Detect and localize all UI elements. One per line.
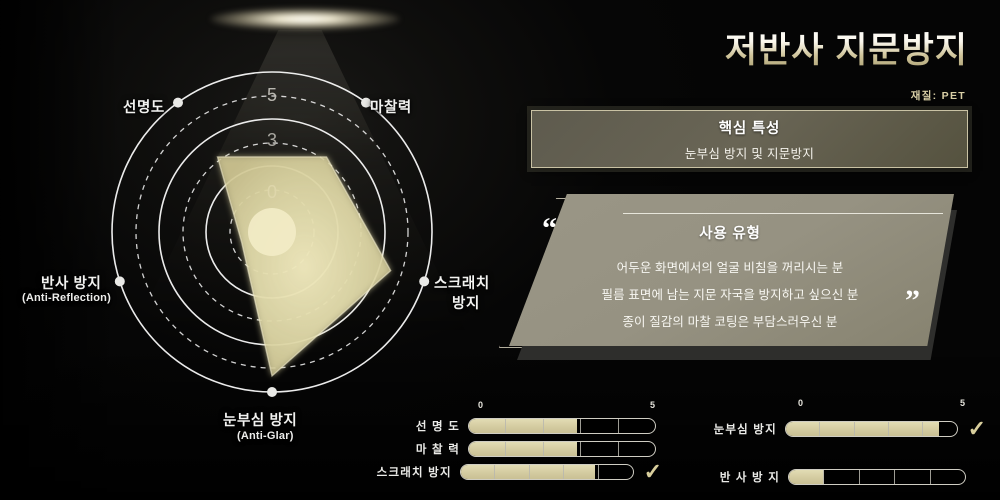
radar-center-hub xyxy=(248,208,296,256)
radar-label-antireflection-en: (Anti-Reflection) xyxy=(22,292,111,304)
usage-type-title: 사용 유형 xyxy=(495,222,965,243)
radar-tick-0: 0 xyxy=(267,182,277,202)
bar-row[interactable]: 눈부심 방지✓ xyxy=(676,420,986,438)
bar-row[interactable]: 마 찰 력 xyxy=(352,440,662,458)
usage-line-2: 필름 표면에 남는 지문 자국을 방지하고 싶으신 분 xyxy=(495,284,965,303)
usage-card-rule xyxy=(623,213,943,214)
radar-label-clarity: 선명도 xyxy=(123,96,165,117)
radar-tick-3: 3 xyxy=(267,130,277,150)
usage-type-card: “ ” 사용 유형 어두운 화면에서의 얼굴 비침을 꺼리시는 분 필름 표면에… xyxy=(495,190,965,360)
bar-scale-max: 5 xyxy=(650,400,655,410)
bar-scale-max: 5 xyxy=(960,398,965,408)
bar-row[interactable]: 반 사 방 지 xyxy=(676,468,986,486)
bar-track[interactable] xyxy=(785,421,958,437)
radar-label-friction: 마찰력 xyxy=(370,96,412,117)
bar-row-label: 스크래치 방지 xyxy=(352,464,460,480)
bar-track[interactable] xyxy=(468,441,656,457)
radar-tick-5: 5 xyxy=(267,85,277,105)
bar-chart-right: 05눈부심 방지✓반 사 방 지 xyxy=(676,398,986,486)
bar-row-label: 마 찰 력 xyxy=(352,441,468,457)
bar-ticks xyxy=(461,465,633,479)
radar-label-antiglare-en: (Anti-Glar) xyxy=(237,430,294,442)
bar-ticks xyxy=(469,419,655,433)
bar-track[interactable] xyxy=(468,418,656,434)
product-spec-infographic: 5 3 0 마찰력 스크래치 방지 눈부심 방지 (Anti-Glar) 반사 … xyxy=(0,0,1000,500)
radar-label-scratch: 스크래치 xyxy=(434,272,490,293)
bar-check-icon: ✓ xyxy=(968,418,986,440)
bar-track[interactable] xyxy=(460,464,634,480)
radar-axis-dot xyxy=(267,387,277,397)
usage-line-3: 종이 질감의 마찰 코팅은 부담스러우신 분 xyxy=(495,311,965,330)
bar-ticks xyxy=(786,422,957,436)
radar-label-scratch-line2: 방지 xyxy=(452,292,480,313)
bar-row-label: 선 명 도 xyxy=(352,418,468,434)
bar-row-label: 눈부심 방지 xyxy=(676,421,785,437)
radar-data-polygon xyxy=(218,157,391,376)
radar-label-antiglare: 눈부심 방지 xyxy=(223,409,297,430)
bar-scale-row: 05 xyxy=(676,398,986,410)
bar-scale-min: 0 xyxy=(798,398,803,408)
bar-ticks xyxy=(469,442,655,456)
radar-axis-dot xyxy=(115,276,125,286)
bar-row[interactable]: 선 명 도 xyxy=(352,417,662,435)
core-feature-title: 핵심 특성 xyxy=(719,117,780,138)
radar-axis-dot xyxy=(419,276,429,286)
bar-row-label: 반 사 방 지 xyxy=(676,469,788,485)
material-label: 재질: PET xyxy=(911,88,966,103)
usage-line-1: 어두운 화면에서의 얼굴 비침을 꺼리시는 분 xyxy=(495,257,965,276)
bar-scale-row: 05 xyxy=(352,400,662,412)
bar-check-icon: ✓ xyxy=(644,461,662,483)
core-feature-subtitle: 눈부심 방지 및 지문방지 xyxy=(685,143,814,162)
bar-ticks xyxy=(789,470,965,484)
bar-track[interactable] xyxy=(788,469,966,485)
bar-scale-min: 0 xyxy=(478,400,483,410)
radar-axis-dot xyxy=(173,98,183,108)
bar-chart-left: 05선 명 도마 찰 력스크래치 방지✓ xyxy=(352,400,662,481)
page-title: 저반사 지문방지 xyxy=(725,22,968,73)
core-feature-box: 핵심 특성 눈부심 방지 및 지문방지 xyxy=(531,110,968,168)
bar-row[interactable]: 스크래치 방지✓ xyxy=(352,463,662,481)
radar-label-antireflection: 반사 방지 xyxy=(41,272,101,293)
